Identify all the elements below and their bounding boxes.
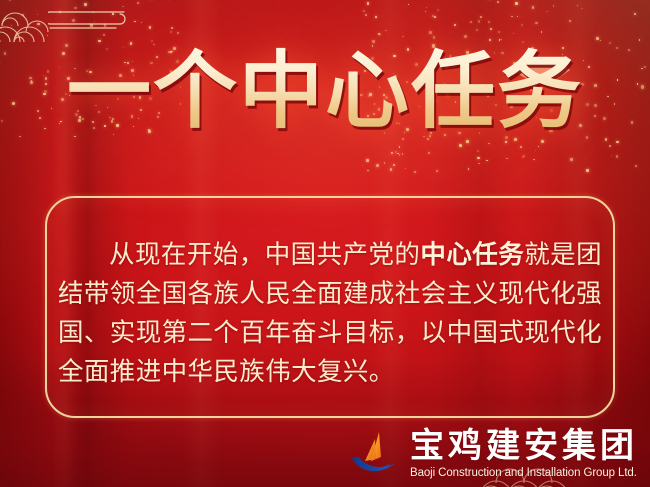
brand-lockup: 宝鸡建安集团 Baoji Construction and Installati… xyxy=(348,429,638,480)
sail-flame-logo-icon xyxy=(348,430,402,478)
brand-name-en: Baoji Construction and Installation Grou… xyxy=(410,468,637,480)
background-fold-highlights xyxy=(0,0,650,487)
brand-name-cn: 宝鸡建安集团 xyxy=(410,429,638,463)
brand-text: 宝鸡建安集团 Baoji Construction and Installati… xyxy=(410,429,638,480)
poster-canvas: 一个中心任务 从现在开始，中国共产党的中心任务就是团结带领全国各族人民全面建成社… xyxy=(0,0,650,487)
